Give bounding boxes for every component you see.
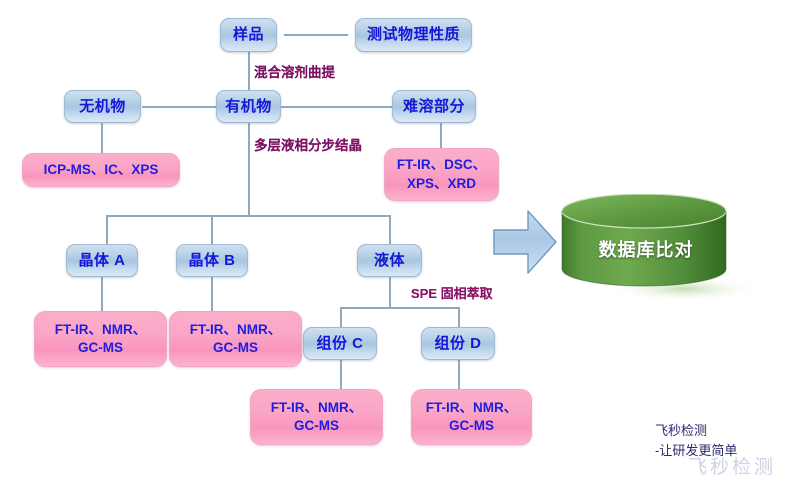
edge-label-mixed-solvent: 混合溶剂曲提 — [254, 61, 335, 81]
connector-inorganic-to-methods — [101, 123, 103, 153]
connector-branch-to-crystal-b — [211, 215, 213, 244]
node-fraction-d-label: 组份 D — [434, 335, 481, 352]
connector-branch-bus-liquid — [340, 307, 459, 309]
methods-fraction-c-line1: FT-IR、NMR、 — [271, 399, 363, 417]
methods-crystal-a-line1: FT-IR、NMR、 — [55, 321, 147, 339]
methods-crystal-b[interactable]: FT-IR、NMR、 GC-MS — [169, 311, 302, 367]
branding-line1: 飞秒检测 — [655, 421, 737, 441]
connector-sample-to-physical-test — [284, 34, 348, 36]
connector-branch-to-liquid — [389, 215, 391, 244]
node-insoluble[interactable]: 难溶部分 — [392, 90, 476, 123]
edge-label-fractional-crystallization-text: 多层液相分步结晶 — [254, 138, 362, 153]
methods-crystal-b-line2: GC-MS — [213, 339, 258, 357]
connector-branch-to-fraction-d — [458, 307, 460, 327]
watermark-text: 飞秒检测 — [688, 452, 776, 479]
node-organic[interactable]: 有机物 — [216, 90, 281, 123]
edge-label-spe-text: SPE 固相萃取 — [411, 286, 493, 301]
connector-fraction-c-to-methods — [340, 360, 342, 389]
connector-crystal-a-to-methods — [101, 277, 103, 311]
node-inorganic-label: 无机物 — [79, 98, 126, 115]
node-fraction-c-label: 组份 C — [316, 335, 363, 352]
edge-label-fractional-crystallization: 多层液相分步结晶 — [254, 134, 362, 154]
methods-crystal-b-line1: FT-IR、NMR、 — [190, 321, 282, 339]
methods-fraction-c[interactable]: FT-IR、NMR、 GC-MS — [250, 389, 383, 445]
node-sample-label: 样品 — [233, 26, 264, 43]
methods-insoluble-line2: XPS、XRD — [407, 175, 476, 193]
methods-inorganic[interactable]: ICP-MS、IC、XPS — [22, 153, 180, 187]
methods-fraction-c-line2: GC-MS — [294, 417, 339, 435]
node-crystal-a[interactable]: 晶体 A — [66, 244, 138, 277]
node-organic-label: 有机物 — [225, 98, 272, 115]
methods-insoluble[interactable]: FT-IR、DSC、 XPS、XRD — [384, 148, 499, 201]
node-crystal-b-label: 晶体 B — [188, 252, 235, 269]
methods-crystal-a[interactable]: FT-IR、NMR、 GC-MS — [34, 311, 167, 367]
node-fraction-c[interactable]: 组份 C — [303, 327, 377, 360]
methods-inorganic-label: ICP-MS、IC、XPS — [44, 161, 159, 179]
methods-fraction-d[interactable]: FT-IR、NMR、 GC-MS — [411, 389, 532, 445]
node-fraction-d[interactable]: 组份 D — [421, 327, 495, 360]
connector-sample-to-organic — [248, 52, 250, 90]
node-crystal-b[interactable]: 晶体 B — [176, 244, 248, 277]
connector-branch-to-crystal-a — [106, 215, 108, 244]
connector-organic-to-insoluble — [281, 106, 392, 108]
methods-fraction-d-line1: FT-IR、NMR、 — [426, 399, 518, 417]
methods-insoluble-line1: FT-IR、DSC、 — [397, 156, 486, 174]
connector-crystal-b-to-methods — [211, 277, 213, 311]
database-cylinder[interactable]: 数据库比对 — [558, 198, 738, 284]
edge-label-spe: SPE 固相萃取 — [411, 283, 493, 302]
node-insoluble-label: 难溶部分 — [403, 98, 465, 115]
connector-insoluble-to-methods — [440, 123, 442, 148]
connector-organic-stem — [248, 123, 250, 216]
node-crystal-a-label: 晶体 A — [78, 252, 125, 269]
edge-label-mixed-solvent-text: 混合溶剂曲提 — [254, 65, 335, 80]
methods-crystal-a-line2: GC-MS — [78, 339, 123, 357]
node-physical-test[interactable]: 测试物理性质 — [355, 18, 472, 52]
node-sample[interactable]: 样品 — [220, 18, 277, 52]
connector-fraction-d-to-methods — [458, 360, 460, 389]
flowchart-canvas: 样品 测试物理性质 无机物 有机物 难溶部分 晶体 A 晶体 B 液体 组份 C… — [0, 0, 795, 486]
node-liquid-label: 液体 — [374, 252, 405, 269]
node-liquid[interactable]: 液体 — [357, 244, 422, 277]
connector-liquid-stem — [389, 277, 391, 308]
connector-inorganic-to-organic — [142, 106, 218, 108]
methods-fraction-d-line2: GC-MS — [449, 417, 494, 435]
connector-branch-bus-organic — [106, 215, 391, 217]
node-physical-test-label: 测试物理性质 — [367, 26, 460, 43]
connector-branch-to-fraction-c — [340, 307, 342, 327]
arrow-to-database-icon — [492, 207, 558, 277]
node-inorganic[interactable]: 无机物 — [64, 90, 141, 123]
